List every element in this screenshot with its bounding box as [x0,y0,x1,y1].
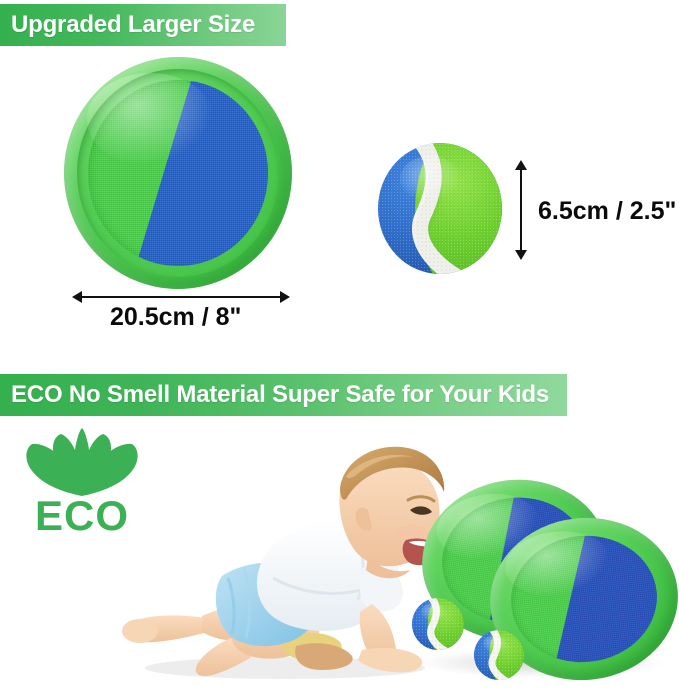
velcro-texture [504,528,663,669]
velcro-texture [88,80,268,266]
baby-shoe [295,643,353,670]
paddle-velcro-face [504,528,663,669]
ball-highlight [421,603,446,621]
paddle-velcro-face [88,80,268,266]
ball-height-label: 6.5cm / 2.5" [538,197,676,226]
banner-top-text: Upgraded Larger Size [11,11,255,39]
small-ball-left [412,598,464,650]
banner-upgraded-larger-size: Upgraded Larger Size [0,4,286,46]
ball-highlight [483,635,507,652]
large-paddle-image [64,57,292,289]
infographic-canvas: Upgraded Larger Size 20.5cm / 8" 6.5cm / [0,0,679,683]
product-group-image [408,478,679,683]
small-ball-right [474,630,524,680]
banner-mid-text: ECO No Smell Material Super Safe for You… [11,381,549,409]
arrow-right-head-icon [280,291,290,303]
ball-highlight [400,156,460,201]
arrow-shaft [520,167,522,253]
large-ball-image [378,143,502,274]
paddle-width-arrow [72,290,290,304]
banner-eco-no-smell: ECO No Smell Material Super Safe for You… [0,374,567,416]
arrow-down-head-icon [515,250,527,260]
paddle-width-label: 20.5cm / 8" [110,303,241,332]
ball-height-arrow [514,160,528,260]
arrow-shaft [79,296,283,298]
